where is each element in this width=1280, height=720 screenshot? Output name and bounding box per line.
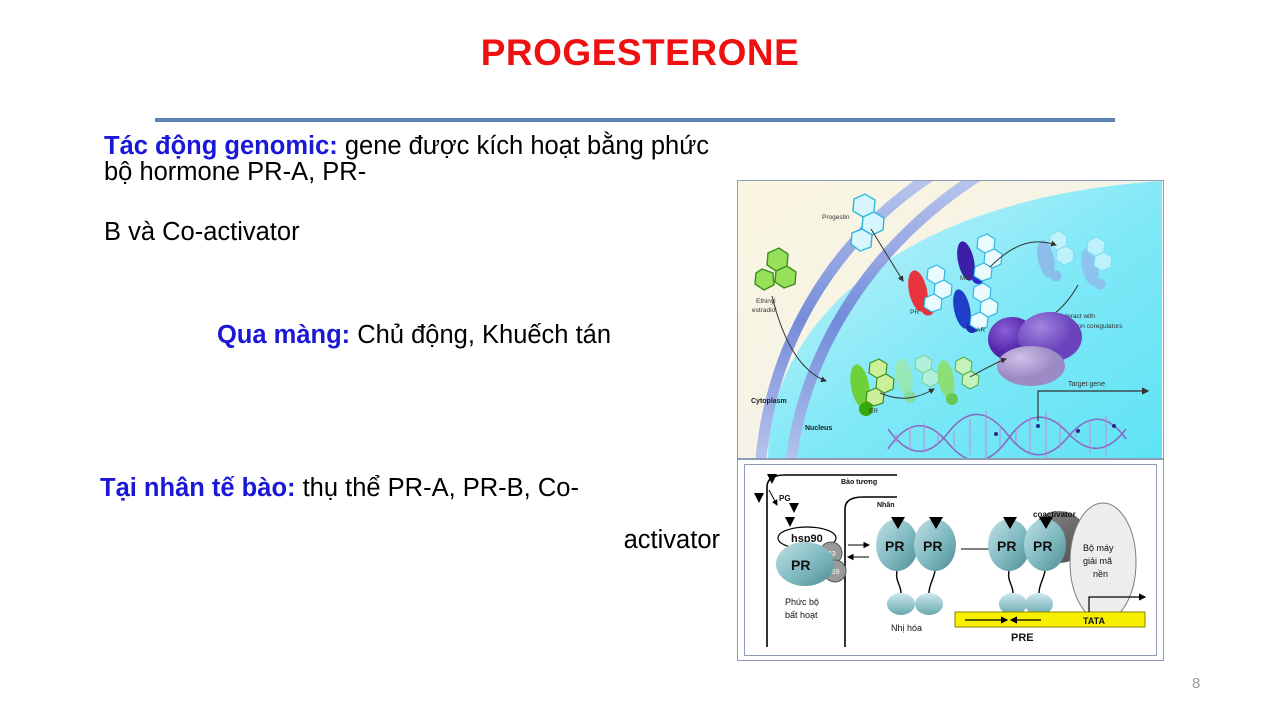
text-qua-mang-rest: Chủ động, Khuếch tán (350, 321, 611, 349)
figure-bottom-caption-nhi-hoa: Nhị hóa (891, 623, 922, 633)
figure-bottom-caption-phuc-bo-1: Phức bộ (785, 597, 819, 607)
figure-bottom-label-pr-dimer-1: PR (885, 538, 904, 554)
text-block-genomic: Tác động genomic: gene được kích hoạt bằ… (104, 133, 724, 245)
figure-bottom-label-pre: PRE (1011, 632, 1034, 644)
figure-bottom-label-pr-dimer-2: PR (923, 538, 942, 554)
figure-top-label-progestin: Progestin (822, 214, 850, 221)
figure-bottom-caption-bo-may-3: nền (1093, 569, 1108, 579)
text-genomic-line2: B và Co-activator (104, 219, 724, 245)
slide-canvas: PROGESTERONE Tác động genomic: gene được… (0, 0, 1280, 720)
slide-page-number: 8 (1192, 675, 1200, 692)
figure-top-label-pr: PR (910, 309, 919, 316)
text-tai-nhan-rest: thụ thể PR-A, PR-B, Co- (296, 474, 579, 502)
figure-top-label-cytoplasm: Cytoplasm (751, 398, 787, 405)
figure-bottom-label-pr-inactive: PR (791, 557, 810, 573)
figure-bottom-label-tata: TATA (1083, 616, 1105, 626)
label-qua-mang: Qua màng: (217, 321, 350, 349)
diagram-pr-activation-pathway: Bào tương Nhân PG hsp90 p23 p59 (738, 460, 1163, 660)
figure-top-label-target-gene: Target gene (1068, 381, 1105, 388)
label-tai-nhan-te-bao: Tại nhân tế bào: (100, 474, 296, 502)
figure-top-label-mr: MR (960, 275, 970, 282)
figure-top-label-ar: AR (976, 327, 985, 334)
figure-bottom-label-nhan: Nhân (877, 502, 895, 509)
figure-top-label-er: ER (869, 408, 878, 415)
figure-bottom-caption-bo-may-2: giải mã (1083, 556, 1112, 566)
diagram-nuclear-receptor-signaling: Progestin Ethinyl estradiol Cytoplasm Nu… (738, 181, 1163, 458)
figure-bottom-label-pg: PG (779, 494, 791, 503)
figure-bottom-label-bao-tuong: Bào tương (841, 479, 877, 486)
figure-bottom-inner-frame: Bào tương Nhân PG hsp90 p23 p59 (744, 464, 1157, 656)
figure-bottom-caption-phuc-bo-2: bất hoạt (785, 610, 818, 620)
title-divider (155, 118, 1115, 122)
figure-top-label-estradiol: estradiol (752, 307, 777, 314)
figure-bottom-caption-bo-may-1: Bộ máy (1083, 543, 1114, 553)
text-block-tai-nhan-te-bao: Tại nhân tế bào: thụ thể PR-A, PR-B, Co-… (100, 475, 720, 553)
figure-panel: Progestin Ethinyl estradiol Cytoplasm Nu… (737, 180, 1164, 661)
text-block-qua-mang: Qua màng: Chủ động, Khuếch tán (104, 322, 724, 348)
figure-bottom-label-pr-bound-1: PR (997, 538, 1016, 554)
page-title: PROGESTERONE (0, 32, 1280, 74)
text-tai-nhan-line2: activator (100, 527, 720, 553)
figure-top-label-nucleus: Nucleus (805, 425, 832, 432)
figure-bottom-label-pr-bound-2: PR (1033, 538, 1052, 554)
label-tac-dong-genomic: Tác động genomic: (104, 132, 338, 160)
